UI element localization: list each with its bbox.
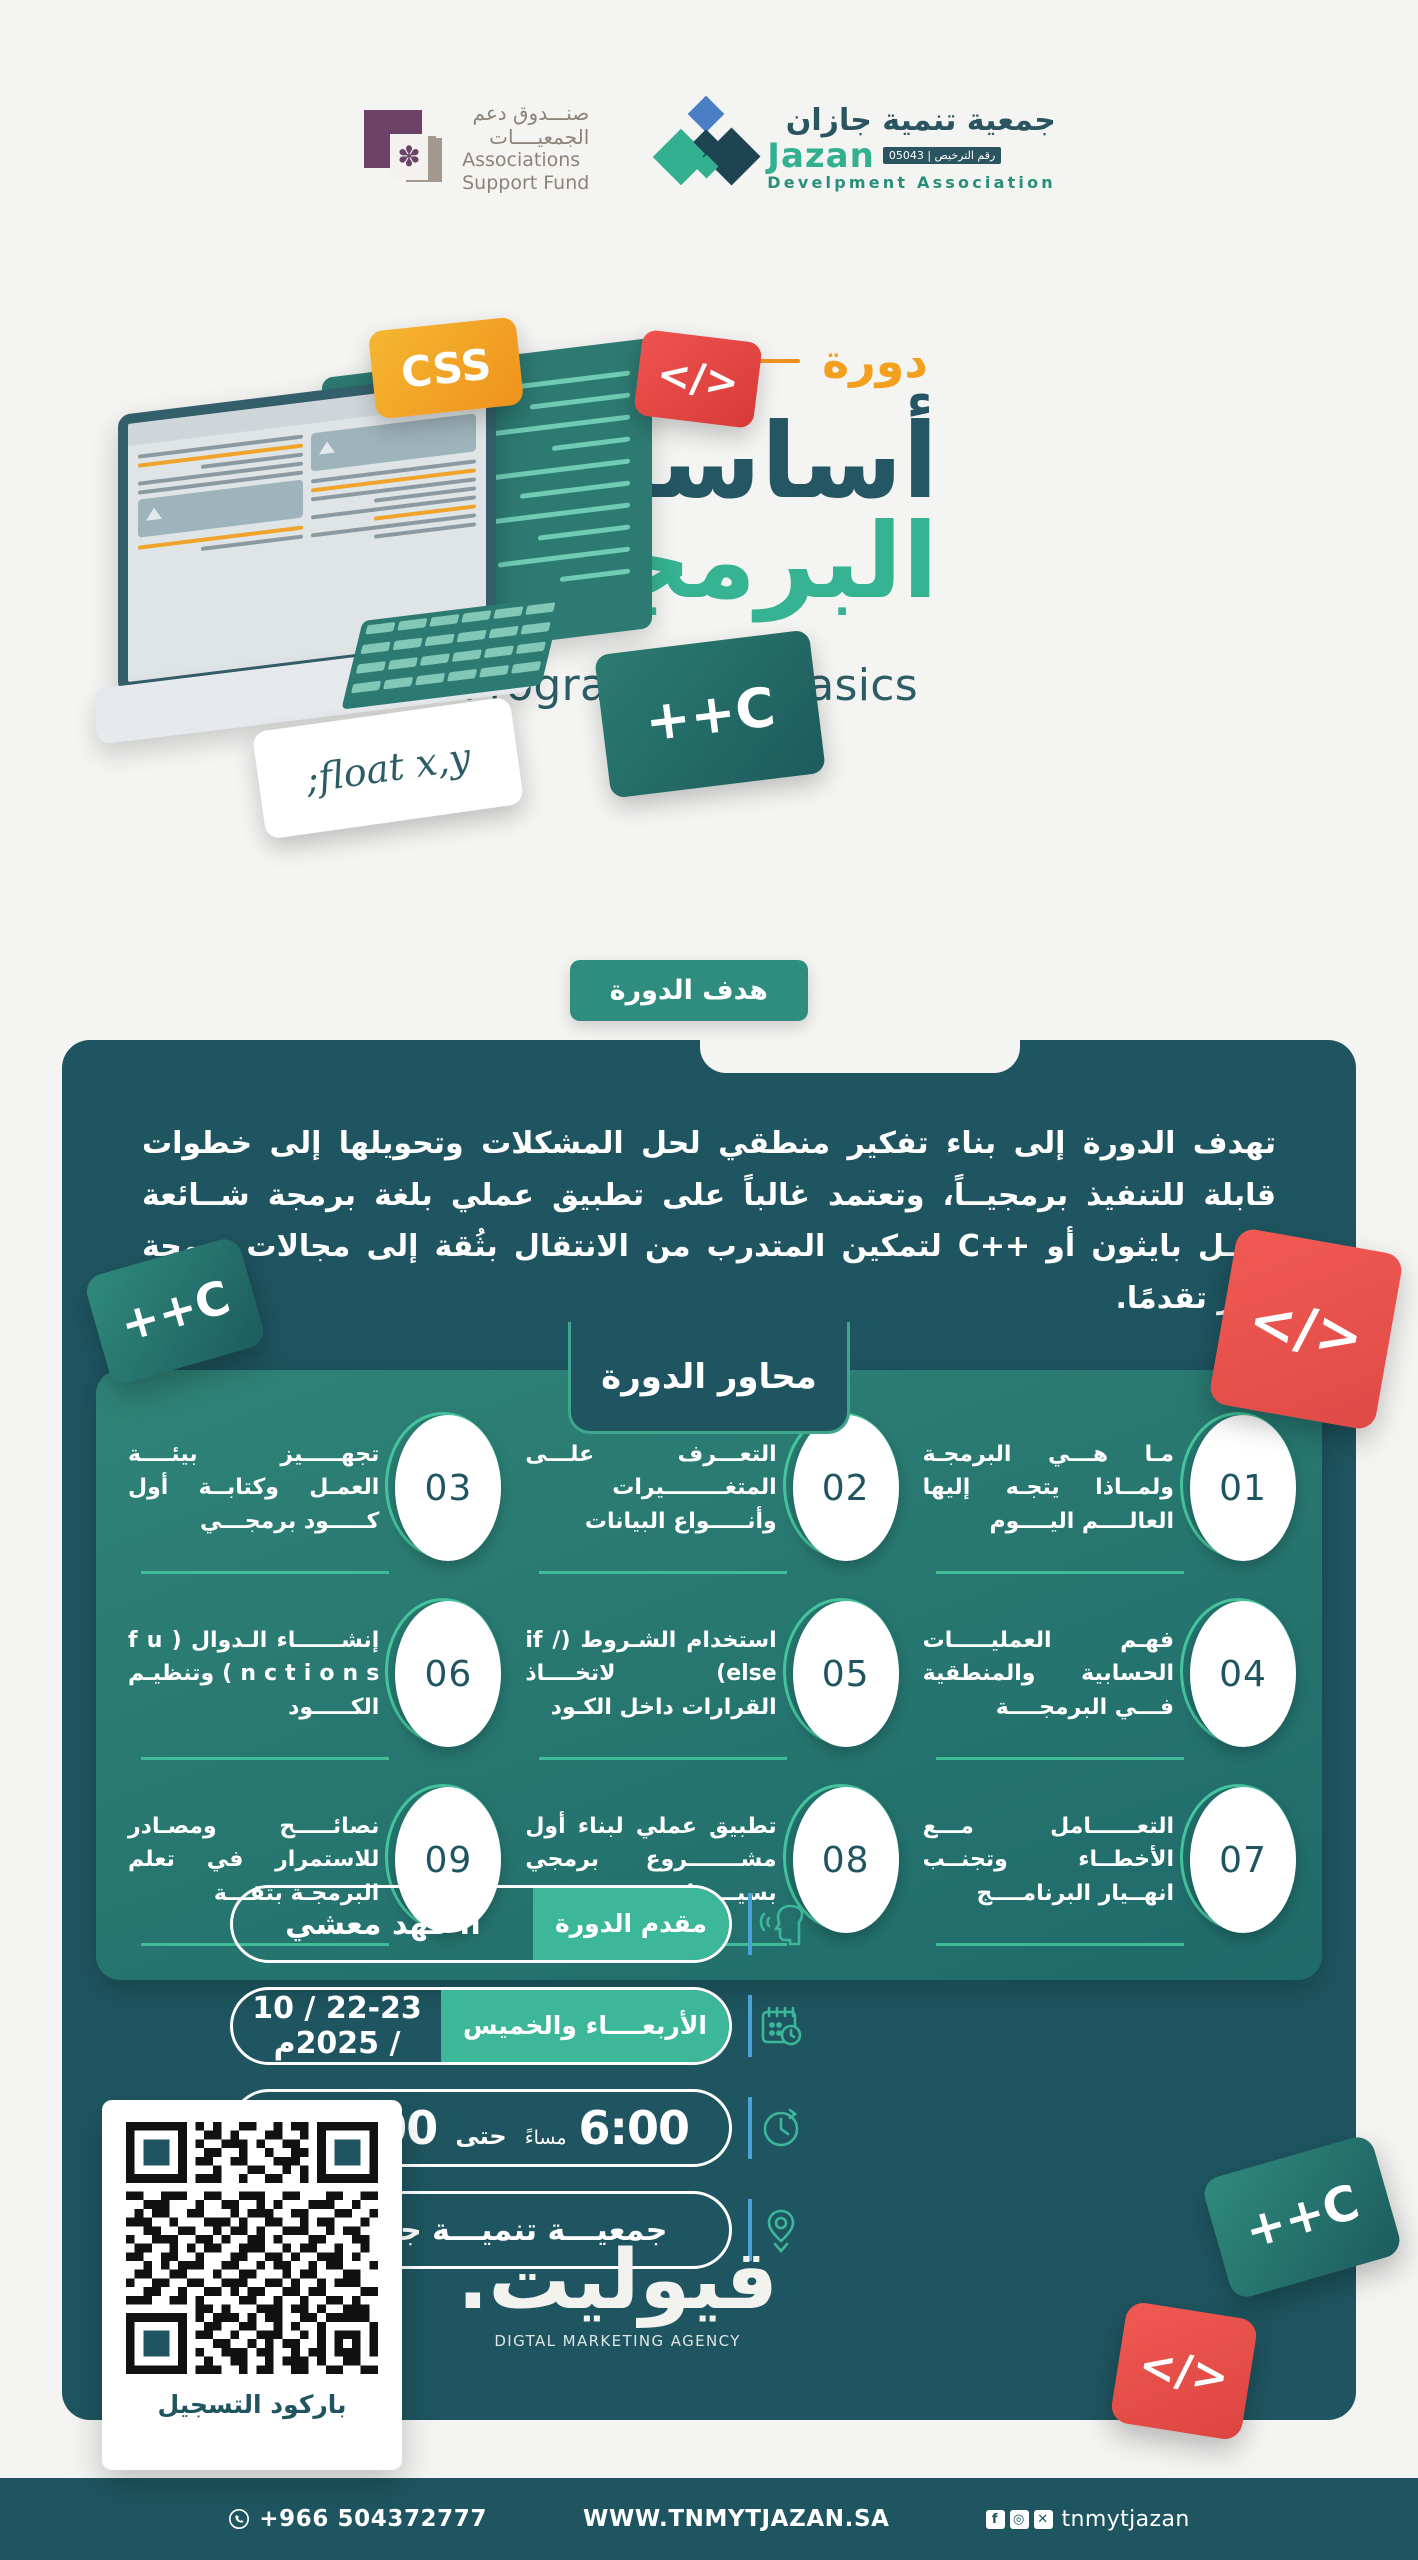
- topic-number: 05: [793, 1601, 899, 1747]
- agency-branding: قيوليت. DIGTAL MARKETING AGENCY: [457, 2240, 778, 2350]
- topic-number: 03: [395, 1415, 501, 1561]
- info-row-date: الأربعــــاء والخميس 22-23 / 10 / 2025م: [230, 1987, 810, 2065]
- topic-underline: [539, 1571, 787, 1574]
- time-start-period: مساءً: [525, 2127, 567, 2149]
- footer-website-text: WWW.TNMYTJAZAN.SA: [583, 2506, 890, 2532]
- topic-label: إنشــــــاء الـدوال ( f u n c t i o n s …: [122, 1624, 395, 1724]
- course-axes-title: محاور الدورة: [568, 1322, 850, 1434]
- speaker-head-icon: [748, 1893, 810, 1955]
- header-logos: جمعية تنمية جازان Jazan رقم الترخيص | 05…: [0, 78, 1418, 218]
- topic-underline: [936, 1757, 1184, 1760]
- fund-arabic-line2: الجمعيــــات: [462, 126, 589, 150]
- jazan-latin-row: Jazan رقم الترخيص | 05043: [767, 139, 1056, 173]
- topic-item[interactable]: 03 تجهـــــيز بيئــــة العمـل وكتابــة أ…: [122, 1412, 501, 1564]
- decor-tag-code-bottom: </>: [1109, 2300, 1258, 2441]
- tag-code: </>: [633, 329, 763, 429]
- qr-code-image: [126, 2122, 378, 2374]
- instructor-pill: مقدم الدورة أ. فهد معشي: [230, 1885, 732, 1963]
- tag-cpp: C++: [594, 629, 826, 798]
- topic-number: 04: [1190, 1601, 1296, 1747]
- decor-tag-code-right: </>: [1208, 1227, 1404, 1431]
- jazan-association-logo: جمعية تنمية جازان Jazan رقم الترخيص | 05…: [659, 101, 1056, 195]
- fund-english-line1: Associations: [462, 149, 589, 171]
- laptop-illustration: CSS </> C++ float x,y;: [90, 310, 790, 870]
- info-row-instructor: مقدم الدورة أ. فهد معشي: [230, 1885, 810, 1963]
- topic-label: التعـــرف علـــى المتغــــــــيرات وأنــ…: [519, 1438, 792, 1538]
- topic-item[interactable]: 04 فهـم العمليـــــات الحسابية والمنطقية…: [917, 1598, 1296, 1750]
- topic-underline: [539, 1757, 787, 1760]
- registration-qr-card[interactable]: باركود التسجيل: [102, 2100, 402, 2470]
- course-goal-badge: هدف الدورة: [570, 960, 808, 1021]
- footer-social-handle: tnmytjazan: [1062, 2507, 1190, 2532]
- footer-website[interactable]: WWW.TNMYTJAZAN.SA: [583, 2506, 890, 2532]
- agency-tagline: DIGTAL MARKETING AGENCY: [457, 2332, 778, 2350]
- topic-underline: [936, 1943, 1184, 1946]
- topics-row-1: 01 مـا هـــي البرمجـة ولمــاذا يتجـه إلي…: [122, 1412, 1296, 1564]
- topic-underline: [141, 1571, 389, 1574]
- jazan-subtitle: Develpment Association: [767, 175, 1056, 191]
- jazan-arabic-name: جمعية تنمية جازان: [767, 106, 1056, 136]
- jazan-license-number: رقم الترخيص | 05043: [883, 147, 1001, 164]
- topic-underline: [936, 1571, 1184, 1574]
- tag-css: CSS: [368, 317, 524, 420]
- jazan-latin-name: Jazan: [767, 139, 875, 173]
- topic-label: التعــــــامل مـــع الأخطــاء وتجنــب ان…: [917, 1810, 1190, 1910]
- instagram-icon[interactable]: ◎: [1010, 2510, 1029, 2529]
- topic-item[interactable]: 07 التعــــــامل مـــع الأخطــاء وتجنــب…: [917, 1784, 1296, 1936]
- time-start: 6:00: [579, 2101, 689, 2155]
- fund-palm-square-icon: ✽: [362, 106, 446, 190]
- facebook-icon[interactable]: f: [986, 2510, 1005, 2529]
- whatsapp-icon: [228, 2508, 250, 2530]
- date-pill: الأربعــــاء والخميس 22-23 / 10 / 2025م: [230, 1987, 732, 2065]
- date-days-label: الأربعــــاء والخميس: [441, 1990, 729, 2062]
- topic-number: 02: [793, 1415, 899, 1561]
- footer-contact-bar: +966 504372777 WWW.TNMYTJAZAN.SA f ◎ ✕ t…: [0, 2478, 1418, 2560]
- poster-root: جمعية تنمية جازان Jazan رقم الترخيص | 05…: [0, 0, 1418, 2560]
- fund-arabic-line1: صنـــدوق دعم: [462, 102, 589, 126]
- topic-item[interactable]: 05 استخدام الشـروط (if / else) لاتخــــا…: [519, 1598, 898, 1750]
- instructor-name: أ. فهد معشي: [233, 1907, 533, 1942]
- footer-phone[interactable]: +966 504372777: [228, 2506, 487, 2532]
- topic-label: فهـم العمليـــــات الحسابية والمنطقية فـ…: [917, 1624, 1190, 1724]
- topics-row-2: 04 فهـم العمليـــــات الحسابية والمنطقية…: [122, 1598, 1296, 1750]
- topic-label: مـا هـــي البرمجـة ولمــاذا يتجـه إليها …: [917, 1438, 1190, 1538]
- topic-number: 07: [1190, 1787, 1296, 1933]
- date-value: 22-23 / 10 / 2025م: [233, 1991, 441, 2061]
- jazan-diamond-icon: [659, 101, 753, 195]
- topic-underline: [141, 1757, 389, 1760]
- hero-kicker: دورة: [822, 338, 928, 384]
- topic-item[interactable]: 06 إنشــــــاء الـدوال ( f u n c t i o n…: [122, 1598, 501, 1750]
- qr-caption: باركود التسجيل: [157, 2390, 346, 2419]
- hero-section: دورة أساسيات البرمجة Programming Basics: [0, 300, 1418, 920]
- topic-item[interactable]: 02 التعـــرف علـــى المتغــــــــيرات وأ…: [519, 1412, 898, 1564]
- calendar-clock-icon: [748, 1995, 810, 2057]
- course-objective-text: تهدف الدورة إلى بناء تفكير منطقي لحل الم…: [142, 1118, 1276, 1324]
- clock-icon: [748, 2097, 810, 2159]
- time-separator: حتى: [449, 2122, 512, 2150]
- jazan-logo-text: جمعية تنمية جازان Jazan رقم الترخيص | 05…: [767, 106, 1056, 191]
- topic-label: تجهـــــيز بيئــــة العمـل وكتابــة أول …: [122, 1438, 395, 1538]
- footer-phone-text: +966 504372777: [259, 2506, 487, 2532]
- associations-support-fund-logo: صنـــدوق دعم الجمعيــــات Associations S…: [362, 102, 589, 194]
- panel-notch: [700, 1039, 1020, 1073]
- topic-label: استخدام الشـروط (if / else) لاتخــــاذ ا…: [519, 1624, 792, 1724]
- footer-social[interactable]: f ◎ ✕ tnmytjazan: [986, 2507, 1190, 2532]
- agency-name: قيوليت.: [457, 2240, 778, 2322]
- instructor-label: مقدم الدورة: [533, 1888, 729, 1960]
- fund-logo-text: صنـــدوق دعم الجمعيــــات Associations S…: [462, 102, 589, 194]
- topic-number: 01: [1190, 1415, 1296, 1561]
- social-icons[interactable]: f ◎ ✕: [986, 2510, 1053, 2529]
- x-twitter-icon[interactable]: ✕: [1034, 2510, 1053, 2529]
- topic-number: 06: [395, 1601, 501, 1747]
- topic-item[interactable]: 01 مـا هـــي البرمجـة ولمــاذا يتجـه إلي…: [917, 1412, 1296, 1564]
- fund-english-line2: Support Fund: [462, 172, 589, 194]
